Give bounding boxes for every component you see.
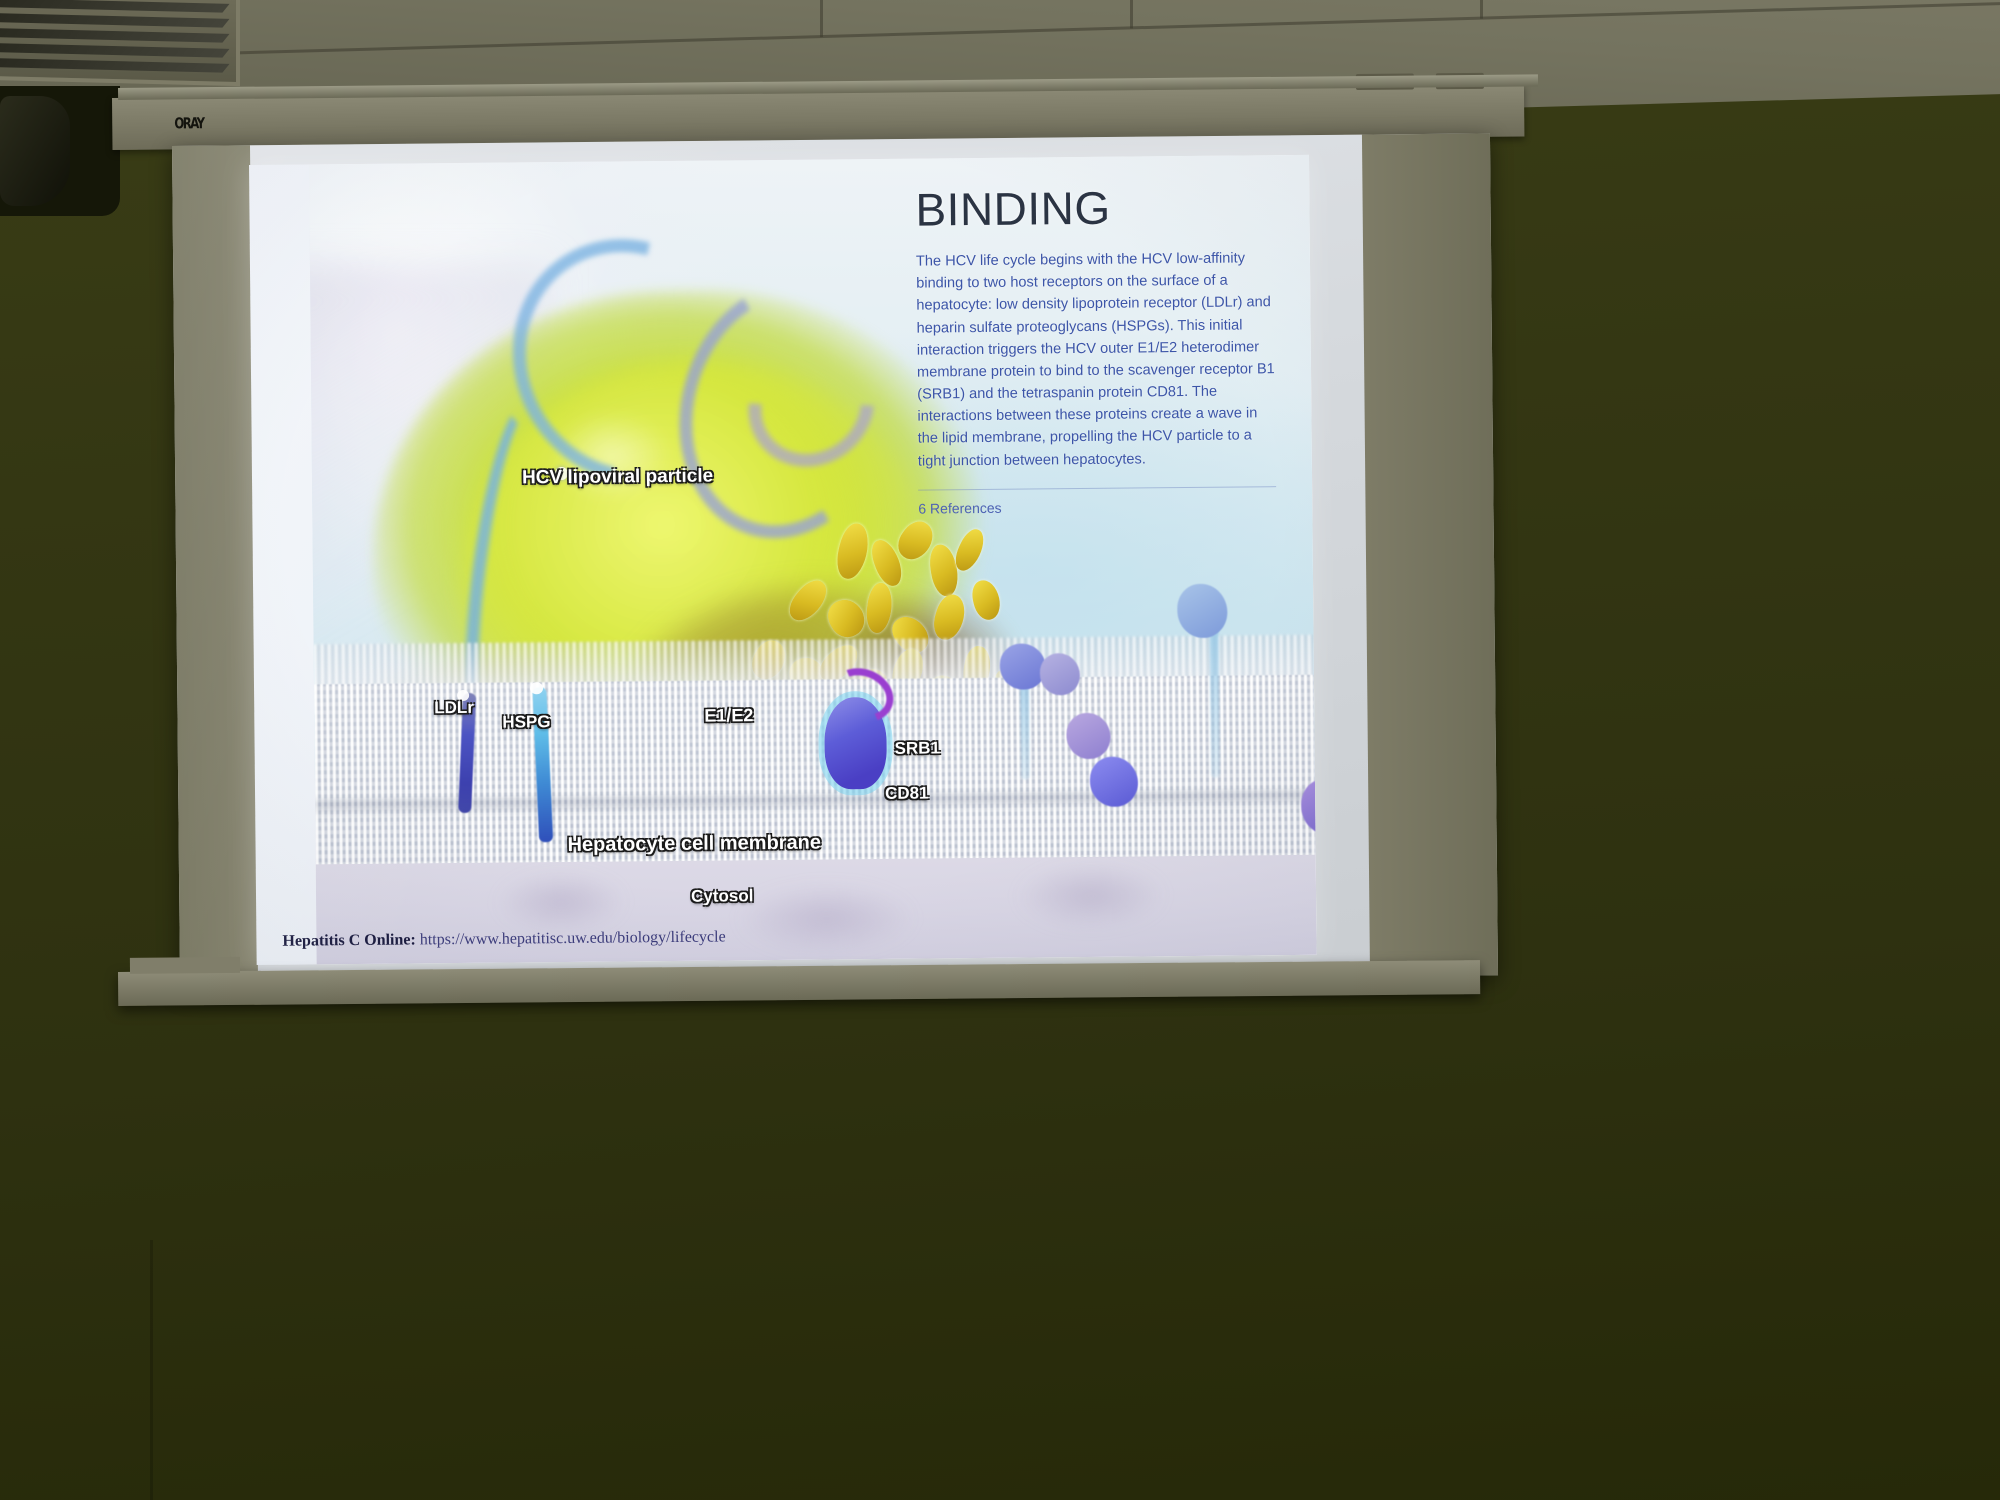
label-cytosol: Cytosol (691, 886, 754, 907)
slide-body-text: The HCV life cycle begins with the HCV l… (916, 247, 1276, 472)
label-e1e2: E1/E2 (704, 705, 753, 726)
label-hspg: HSPG (502, 712, 550, 732)
projected-slide: HCV lipoviral particle LDLr HSPG E1/E2 S… (249, 155, 1317, 965)
wall-seam (150, 1240, 153, 1500)
membrane-protein (1000, 643, 1046, 689)
lecture-room: ORAY (0, 0, 2000, 1500)
protein-stalk (1209, 626, 1219, 778)
screen-left-margin (172, 145, 258, 988)
slide-title: BINDING (915, 183, 1273, 232)
ceiling-tile-seam (820, 0, 823, 37)
label-hcv-lipoviral-particle: HCV lipoviral particle (522, 466, 713, 490)
label-hepatocyte-cell-membrane: Hepatocyte cell membrane (567, 832, 821, 857)
membrane-protein (1177, 584, 1228, 638)
oray-brand-logo: ORAY (174, 114, 203, 132)
panel-divider (918, 486, 1276, 490)
label-cd81: CD81 (885, 784, 929, 804)
membrane-protein (1066, 713, 1110, 759)
bar-notch (130, 957, 240, 974)
cytosol-blob (736, 883, 917, 955)
cytosol-blob (1016, 862, 1167, 929)
screen-right-margin (1362, 133, 1498, 976)
hspg-head (530, 682, 543, 694)
slide-text-panel: BINDING The HCV life cycle begins with t… (915, 183, 1276, 516)
ceiling-tile-seam (1480, 0, 1483, 19)
cytosol-blob (496, 871, 627, 932)
membrane-protein (1040, 653, 1080, 695)
citation-source: Hepatitis C Online: (282, 931, 416, 949)
citation-url[interactable]: https://www.hepatitisc.uw.edu/biology/li… (420, 928, 726, 948)
label-ldlr: LDLr (434, 698, 474, 718)
membrane-protein (1090, 756, 1138, 806)
ceiling-tile-seam (1130, 0, 1133, 28)
ceiling-mounted-sensor (0, 96, 70, 206)
ceiling-air-vent (0, 0, 240, 86)
label-srb1: SRB1 (895, 738, 941, 758)
ceiling-tile-seam (0, 2, 2000, 61)
